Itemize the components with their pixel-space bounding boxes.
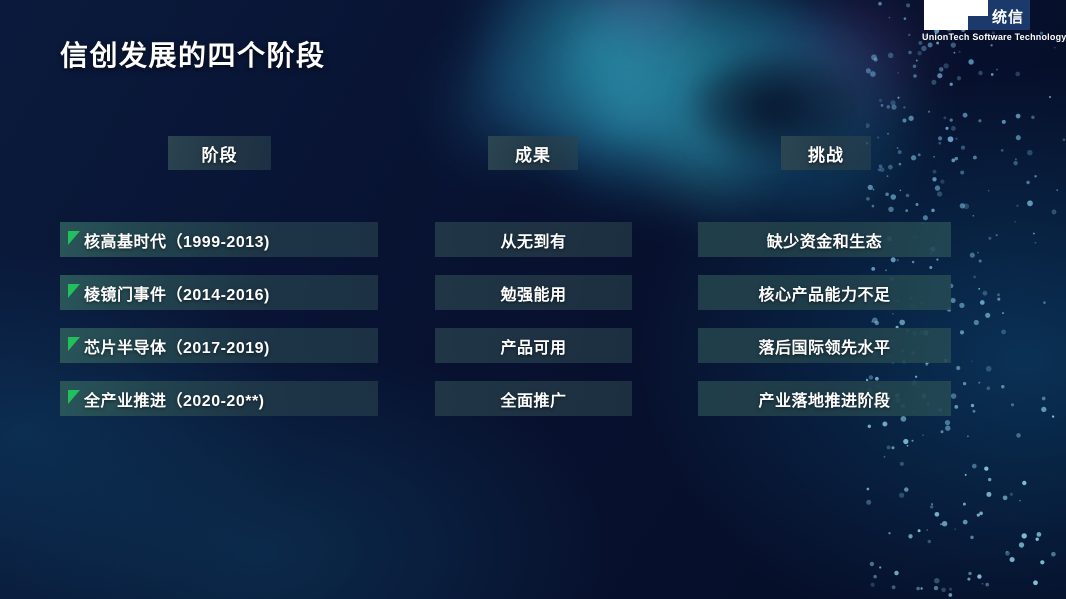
green-flag-icon: [68, 390, 80, 404]
green-flag-icon: [68, 284, 80, 298]
green-flag-icon: [68, 231, 80, 245]
column-header-challenge: 挑战: [781, 136, 871, 170]
page-title: 信创发展的四个阶段: [60, 34, 326, 74]
network-artwork-blob: [520, 40, 730, 200]
table-cell-stage: 核高基时代（1999-2013): [60, 222, 378, 257]
table-cell-stage: 棱镜门事件（2014-2016): [60, 275, 378, 310]
logo-english-name: UnionTech Software Technology C: [922, 32, 1066, 42]
uniontech-logo-icon-notch: [968, 0, 988, 16]
network-artwork-blob: [620, 100, 800, 220]
table-cell-challenge: 落后国际领先水平: [698, 328, 951, 363]
table-cell-result: 从无到有: [435, 222, 632, 257]
table-cell-stage: 全产业推进（2020-20**): [60, 381, 378, 416]
table-cell-stage: 芯片半导体（2017-2019): [60, 328, 378, 363]
presentation-slide: 信创发展的四个阶段 统信 UnionTech Software Technolo…: [0, 0, 1066, 599]
table-cell-challenge: 核心产品能力不足: [698, 275, 951, 310]
uniontech-logo: 统信 UnionTech Software Technology C: [916, 0, 1066, 48]
column-header-result: 成果: [488, 136, 578, 170]
stage-label: 核高基时代（1999-2013): [84, 228, 270, 252]
table-cell-challenge: 产业落地推进阶段: [698, 381, 951, 416]
logo-chinese-name: 统信: [992, 6, 1024, 27]
network-artwork-blob: [560, 0, 720, 50]
table-cell-result: 全面推广: [435, 381, 632, 416]
table-cell-result: 勉强能用: [435, 275, 632, 310]
table-cell-challenge: 缺少资金和生态: [698, 222, 951, 257]
table-cell-result: 产品可用: [435, 328, 632, 363]
column-header-stage: 阶段: [168, 136, 271, 170]
network-artwork-blob: [680, 10, 930, 220]
stage-label: 全产业推进（2020-20**): [84, 387, 265, 411]
green-flag-icon: [68, 337, 80, 351]
stage-label: 棱镜门事件（2014-2016): [84, 281, 270, 305]
stage-label: 芯片半导体（2017-2019): [84, 334, 270, 358]
